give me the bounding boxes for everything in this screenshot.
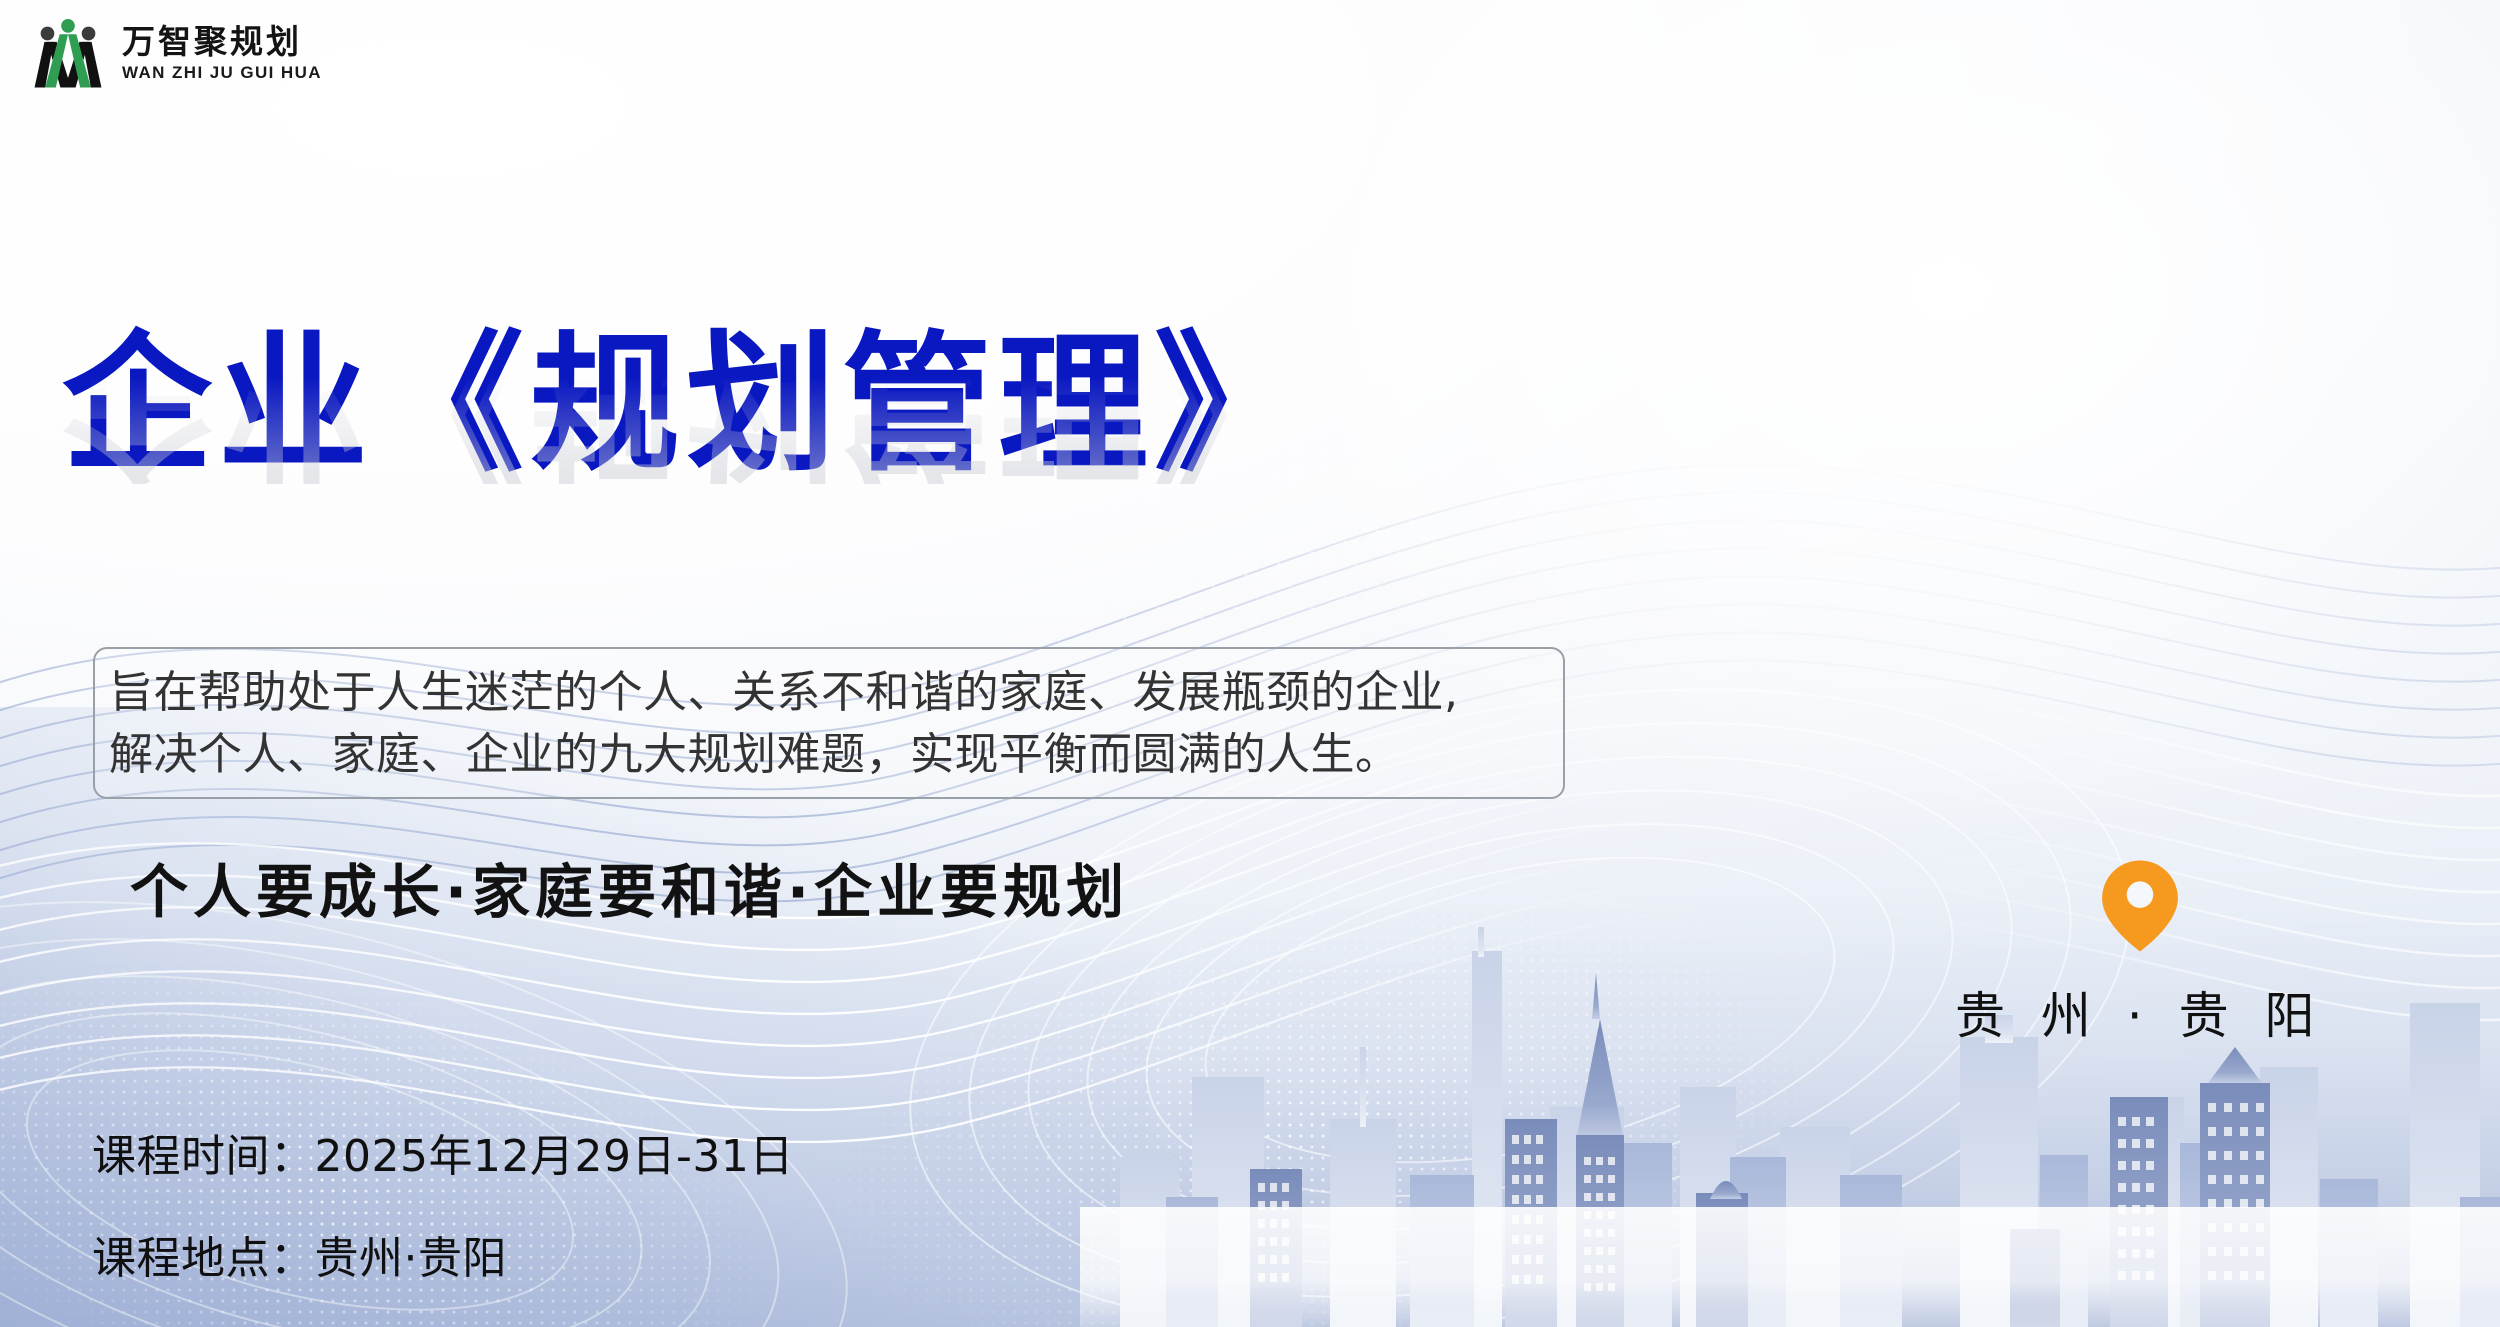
brand-logo: 万智聚规划 WAN ZHI JU GUI HUA xyxy=(30,16,322,92)
description-box: 旨在帮助处于人生迷茫的个人、关系不和谐的家庭、发展瓶颈的企业, 解决个人、家庭、… xyxy=(93,647,1565,799)
course-time-row: 课程时间：2025年12月29日-31日 xyxy=(92,1120,794,1184)
location-badge: 贵 州 · 贵 阳 xyxy=(1955,858,2324,1048)
poster-canvas: 万智聚规划 WAN ZHI JU GUI HUA 企业《规划管理》 企业《规划管… xyxy=(0,0,2500,1327)
three-people-mark-icon xyxy=(30,16,106,92)
page-title-reflection: 企业《规划管理》 xyxy=(62,334,1682,484)
description-line-1: 旨在帮助处于人生迷茫的个人、关系不和谐的家庭、发展瓶颈的企业, xyxy=(109,662,1547,724)
brand-wordmark: 万智聚规划 WAN ZHI JU GUI HUA xyxy=(122,24,322,83)
map-pin-icon xyxy=(2098,858,2182,954)
course-info-block: 课程时间：2025年12月29日-31日 课程地点：贵州·贵阳 xyxy=(92,1120,794,1286)
slogan-text: 个人要成长·家庭要和谐·企业要规划 xyxy=(130,845,1129,929)
location-text: 贵 州 · 贵 阳 xyxy=(1955,976,2324,1048)
course-place-row: 课程地点：贵州·贵阳 xyxy=(92,1222,794,1286)
title-block: 企业《规划管理》 企业《规划管理》 xyxy=(62,330,1682,634)
brand-name-en: WAN ZHI JU GUI HUA xyxy=(122,63,322,83)
description-line-2: 解决个人、家庭、企业的九大规划难题，实现平衡而圆满的人生。 xyxy=(109,724,1547,786)
brand-name-cn: 万智聚规划 xyxy=(122,24,302,61)
